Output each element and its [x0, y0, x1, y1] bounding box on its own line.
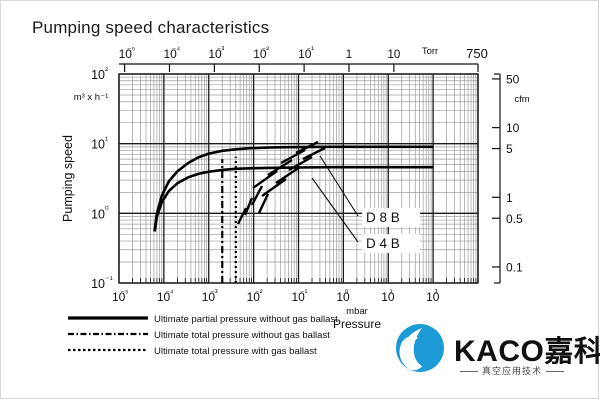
logo-tagline: 真空应用技术: [456, 364, 568, 377]
svg-text:⁻²: ⁻²: [255, 288, 263, 298]
svg-text:⁰: ⁰: [105, 205, 109, 215]
svg-text:10: 10: [381, 290, 395, 304]
svg-text:Pressure: Pressure: [333, 317, 381, 331]
svg-text:1: 1: [346, 49, 352, 61]
svg-text:²: ²: [105, 65, 108, 75]
logo-brand-cn: 嘉科: [544, 334, 600, 368]
svg-text:10: 10: [426, 290, 440, 304]
svg-text:⁻⁵: ⁻⁵: [120, 288, 129, 298]
svg-text:750: 750: [466, 46, 488, 61]
svg-text:Pumping speed: Pumping speed: [61, 135, 75, 222]
svg-text:5: 5: [506, 142, 513, 156]
svg-text:⁻³: ⁻³: [217, 45, 225, 55]
svg-text:⁻⁵: ⁻⁵: [127, 45, 136, 55]
legend-label: Ultimate total pressure without gas ball…: [154, 330, 330, 341]
svg-text:⁻¹: ⁻¹: [300, 288, 308, 298]
legend-label: Ultimate total pressure with gas ballast: [154, 346, 317, 357]
curve-label: D 8 B: [366, 210, 400, 225]
svg-text:⁻¹: ⁻¹: [105, 274, 113, 284]
svg-text:⁻²: ⁻²: [262, 45, 270, 55]
svg-text:⁻¹: ⁻¹: [307, 45, 315, 55]
svg-text:⁰: ⁰: [345, 288, 349, 298]
svg-text:Torr: Torr: [422, 46, 438, 57]
svg-text:¹: ¹: [105, 135, 108, 145]
svg-text:10: 10: [387, 49, 400, 61]
svg-text:⁻³: ⁻³: [210, 288, 218, 298]
kaco-logo: KACO嘉科 真空应用技术: [392, 322, 592, 392]
svg-text:0.1: 0.1: [506, 260, 523, 274]
svg-text:1: 1: [506, 191, 513, 205]
svg-text:10: 10: [91, 68, 105, 82]
svg-text:⁻⁴: ⁻⁴: [172, 45, 181, 55]
svg-text:³: ³: [435, 288, 438, 298]
svg-text:50: 50: [506, 72, 520, 86]
svg-text:⁻⁴: ⁻⁴: [165, 288, 174, 298]
svg-text:¹: ¹: [390, 288, 393, 298]
curve-label: D 4 B: [366, 236, 400, 251]
svg-text:10: 10: [506, 121, 520, 135]
svg-text:mbar: mbar: [346, 306, 368, 317]
svg-text:10: 10: [91, 207, 105, 221]
svg-text:10: 10: [91, 277, 105, 291]
svg-text:cfm: cfm: [514, 94, 529, 105]
svg-text:m³ x h⁻¹: m³ x h⁻¹: [74, 92, 109, 103]
legend-label: Ultimate partial pressure without gas ba…: [154, 314, 338, 325]
svg-text:0.5: 0.5: [506, 212, 523, 226]
logo-tagline-text: 真空应用技术: [482, 367, 542, 377]
kaco-mark-icon: [392, 322, 448, 378]
svg-text:10: 10: [91, 138, 105, 152]
